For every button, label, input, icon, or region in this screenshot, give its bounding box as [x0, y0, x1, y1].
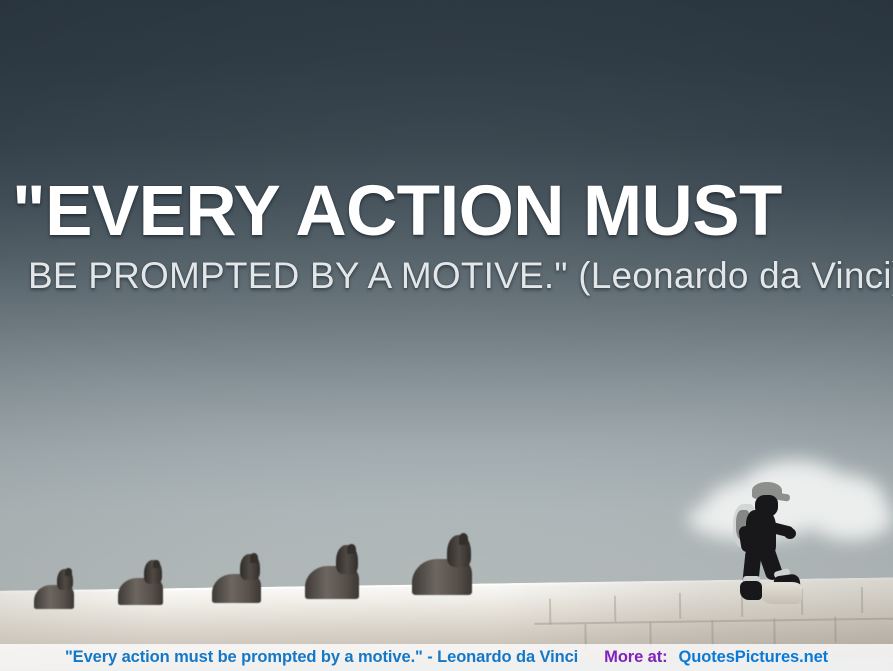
stone-statue-3: [212, 557, 261, 603]
stone-statue-5: [412, 538, 472, 595]
caption-site-link[interactable]: QuotesPictures.net: [679, 648, 829, 667]
quote-subline: BE PROMPTED BY A MOTIVE." (Leonardo da V…: [28, 255, 893, 297]
caption-bar: "Every action must be prompted by a moti…: [0, 644, 893, 671]
caption-more-at-label: More at:: [604, 648, 667, 667]
quote-attribution: (Leonardo da Vinci): [578, 255, 893, 296]
stone-statue-4: [305, 548, 359, 599]
caption-quote-text: "Every action must be prompted by a moti…: [65, 648, 578, 667]
stone-statue-1: [34, 571, 74, 609]
quote-headline: "EVERY ACTION MUST: [12, 176, 882, 248]
stone-statue-2: [118, 563, 163, 605]
quote-subline-main: BE PROMPTED BY A MOTIVE.": [28, 255, 568, 296]
quote-image-canvas: "EVERY ACTION MUST BE PROMPTED BY A MOTI…: [0, 0, 893, 671]
walking-figure: [722, 482, 814, 606]
